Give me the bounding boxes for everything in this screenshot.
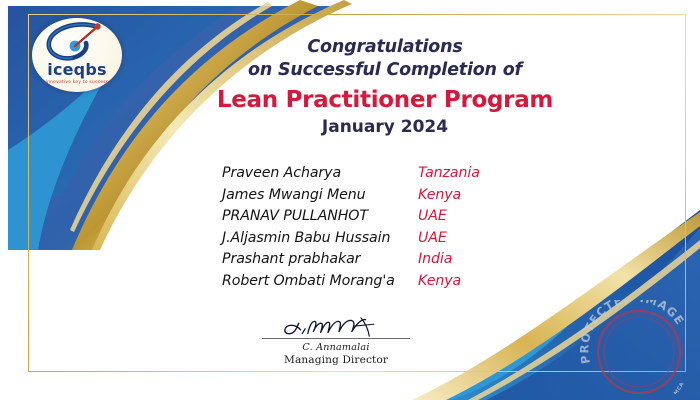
signature-rule — [262, 338, 410, 339]
signature-block: C. Annamalai Managing Director — [262, 316, 410, 366]
recipient-name: James Mwangi Menu — [222, 187, 418, 203]
recipient-row: Prashant prabhakar India — [222, 251, 480, 273]
recipient-country: UAE — [418, 230, 447, 246]
completion-line: on Successful Completion of — [150, 59, 620, 82]
logo-wordmark: iceqbs — [47, 62, 106, 78]
iceqbs-logo: iceqbs innovative key to success — [32, 18, 122, 92]
signatory-name: C. Annamalai — [262, 342, 410, 353]
recipient-name: J.Aljasmin Babu Hussain — [222, 230, 418, 246]
recipient-country: Kenya — [418, 273, 461, 289]
program-title: Lean Practitioner Program — [150, 85, 620, 116]
recipient-name: Robert Ombati Morang'a — [222, 273, 418, 289]
recipient-row: J.Aljasmin Babu Hussain UAE — [222, 230, 480, 252]
program-date: January 2024 — [150, 116, 620, 138]
handwritten-signature — [262, 316, 398, 338]
logo-tagline: innovative key to success — [46, 80, 109, 85]
congratulations-line: Congratulations — [150, 36, 620, 59]
protected-image-watermark: PROTECTED IMAGE By Digital Eyes & DMCA — [580, 300, 698, 394]
recipient-row: Praveen Acharya Tanzania — [222, 165, 480, 187]
recipient-row: PRANAV PULLANHOT UAE — [222, 208, 480, 230]
headline-block: Congratulations on Successful Completion… — [150, 36, 620, 138]
swoosh-target-icon — [42, 22, 112, 64]
recipient-country: India — [418, 251, 452, 267]
recipient-row: Robert Ombati Morang'a Kenya — [222, 273, 480, 295]
signatory-role: Managing Director — [262, 354, 410, 366]
recipient-row: James Mwangi Menu Kenya — [222, 187, 480, 209]
recipient-name: Praveen Acharya — [222, 165, 418, 181]
recipient-name: Prashant prabhakar — [222, 251, 418, 267]
recipients-list: Praveen Acharya Tanzania James Mwangi Me… — [222, 165, 480, 294]
recipient-name: PRANAV PULLANHOT — [222, 208, 418, 224]
certificate: iceqbs innovative key to success Congrat… — [0, 0, 700, 400]
recipient-country: Kenya — [418, 187, 461, 203]
recipient-country: Tanzania — [418, 165, 480, 181]
recipient-country: UAE — [418, 208, 447, 224]
